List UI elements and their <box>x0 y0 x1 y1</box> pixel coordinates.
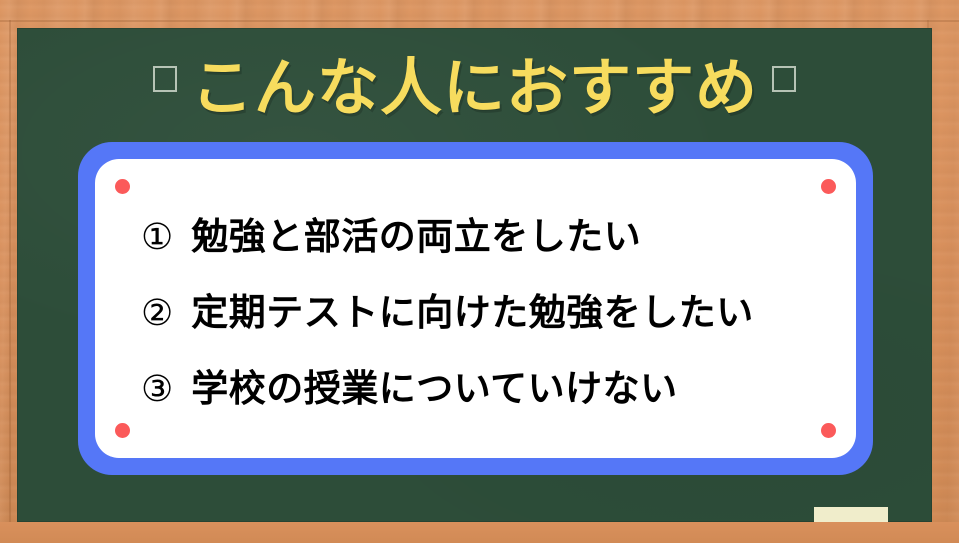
list-item-marker: ③ <box>141 372 173 408</box>
list-item-marker: ② <box>141 296 173 332</box>
list-item: ① 勉強と部活の両立をしたい <box>141 218 828 257</box>
list-item-label: 定期テストに向けた勉強をしたい <box>191 294 754 333</box>
list-item-label: 学校の授業についていけない <box>191 370 677 409</box>
recommendation-list: ① 勉強と部活の両立をしたい ② 定期テストに向けた勉強をしたい ③ 学校の授業… <box>141 199 828 428</box>
list-item: ③ 学校の授業についていけない <box>141 370 828 409</box>
list-item-label: 勉強と部活の両立をしたい <box>191 218 641 257</box>
corner-dot-bottom-left <box>115 423 130 438</box>
recommendation-card: ① 勉強と部活の両立をしたい ② 定期テストに向けた勉強をしたい ③ 学校の授業… <box>78 142 873 475</box>
corner-dot-top-left <box>115 179 130 194</box>
frame-moulding-left <box>9 20 11 543</box>
chalkboard-eraser <box>814 507 888 523</box>
card-inner-surface: ① 勉強と部活の両立をしたい ② 定期テストに向けた勉強をしたい ③ 学校の授業… <box>95 159 856 458</box>
list-item: ② 定期テストに向けた勉強をしたい <box>141 294 828 333</box>
chalk-tray-ledge <box>0 522 959 543</box>
corner-dot-top-right <box>821 179 836 194</box>
list-item-marker: ① <box>141 220 173 256</box>
frame-moulding-top <box>0 20 959 22</box>
chalkboard-slide: こんな人におすすめ ① 勉強と部活の両立をしたい ② 定期テストに向けた勉強をし… <box>0 0 959 543</box>
